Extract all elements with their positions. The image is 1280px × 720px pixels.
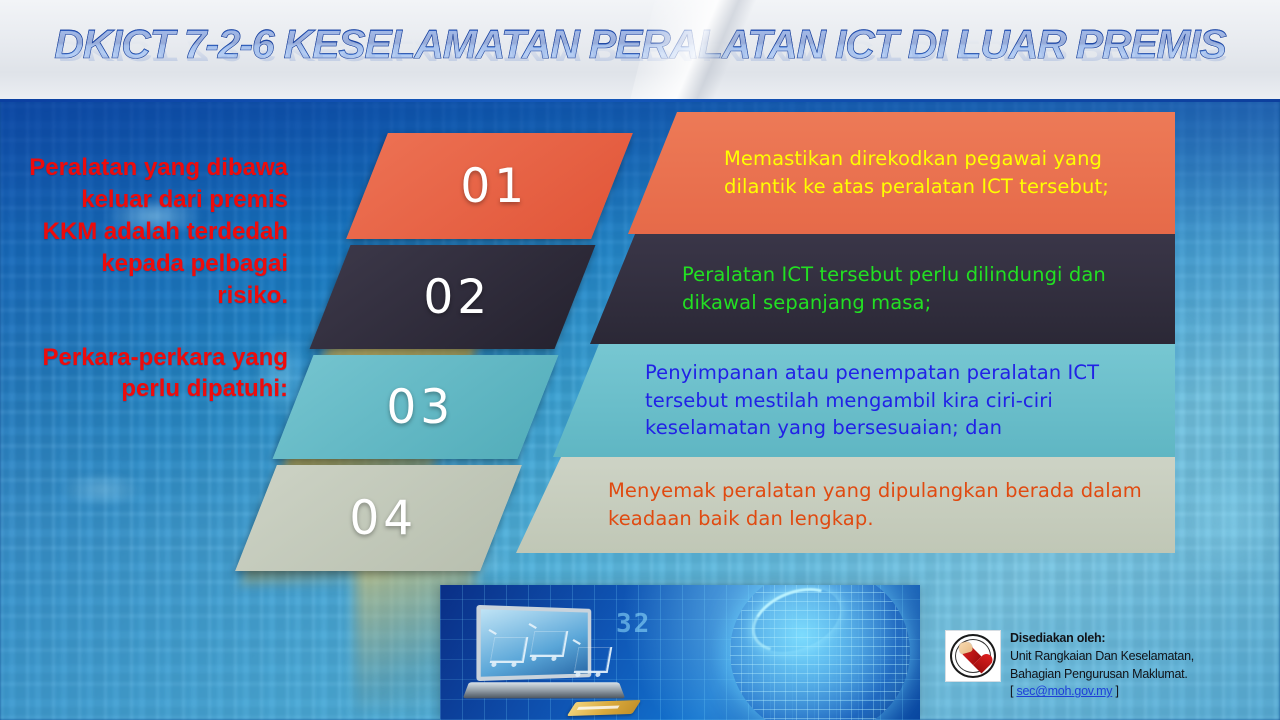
step-number-box-01[interactable]: 01: [346, 133, 633, 239]
step-content-panel-03[interactable]: Penyimpanan atau penempatan peralatan IC…: [553, 344, 1175, 457]
step-content-panel-02[interactable]: Peralatan ICT tersebut perlu dilindungi …: [590, 234, 1175, 344]
step-number-box-03[interactable]: 03: [273, 355, 559, 459]
shopping-cart-icon: [490, 637, 529, 663]
credit-text-block: Disediakan oleh: Unit Rangkaian Dan Kese…: [1010, 630, 1194, 701]
step-content-text-04: Menyemak peralatan yang dipulangkan bera…: [516, 477, 1175, 532]
credit-line-1: Disediakan oleh:: [1010, 630, 1194, 648]
laptop-base-icon: [463, 682, 625, 698]
decorative-photo-ecommerce: 32: [440, 585, 920, 720]
shopping-cart-icon: [574, 647, 613, 673]
step-number-box-04[interactable]: 04: [235, 465, 522, 571]
step-number-label-04: 04: [256, 491, 501, 546]
logo-ring: [950, 634, 996, 678]
credit-email-link[interactable]: sec@moh.gov.my: [1016, 684, 1112, 698]
slide: DKICT 7-2-6 KESELAMATAN PERALATAN ICT DI…: [0, 0, 1280, 720]
credit-email-line: [ sec@moh.gov.my ]: [1010, 683, 1194, 701]
moh-logo: [945, 630, 1001, 682]
shopping-cart-icon: [530, 631, 569, 657]
step-number-label-01: 01: [367, 159, 612, 214]
photo-digits: 32: [616, 609, 651, 639]
step-content-text-01: Memastikan direkodkan pegawai yang dilan…: [628, 145, 1175, 200]
step-content-panel-04[interactable]: Menyemak peralatan yang dipulangkan bera…: [516, 457, 1175, 553]
step-number-label-02: 02: [330, 270, 575, 325]
footer-credit: Disediakan oleh: Unit Rangkaian Dan Kese…: [945, 630, 1194, 701]
step-content-text-02: Peralatan ICT tersebut perlu dilindungi …: [590, 261, 1175, 316]
credit-line-2: Unit Rangkaian Dan Keselamatan,: [1010, 648, 1194, 666]
step-content-text-03: Penyimpanan atau penempatan peralatan IC…: [553, 359, 1175, 442]
step-number-label-03: 03: [293, 380, 538, 435]
bracket-close: ]: [1112, 684, 1118, 698]
step-number-box-02[interactable]: 02: [310, 245, 596, 349]
credit-line-3: Bahagian Pengurusan Maklumat.: [1010, 666, 1194, 684]
step-content-panel-01[interactable]: Memastikan direkodkan pegawai yang dilan…: [628, 112, 1175, 234]
credit-card-icon: [567, 700, 641, 716]
